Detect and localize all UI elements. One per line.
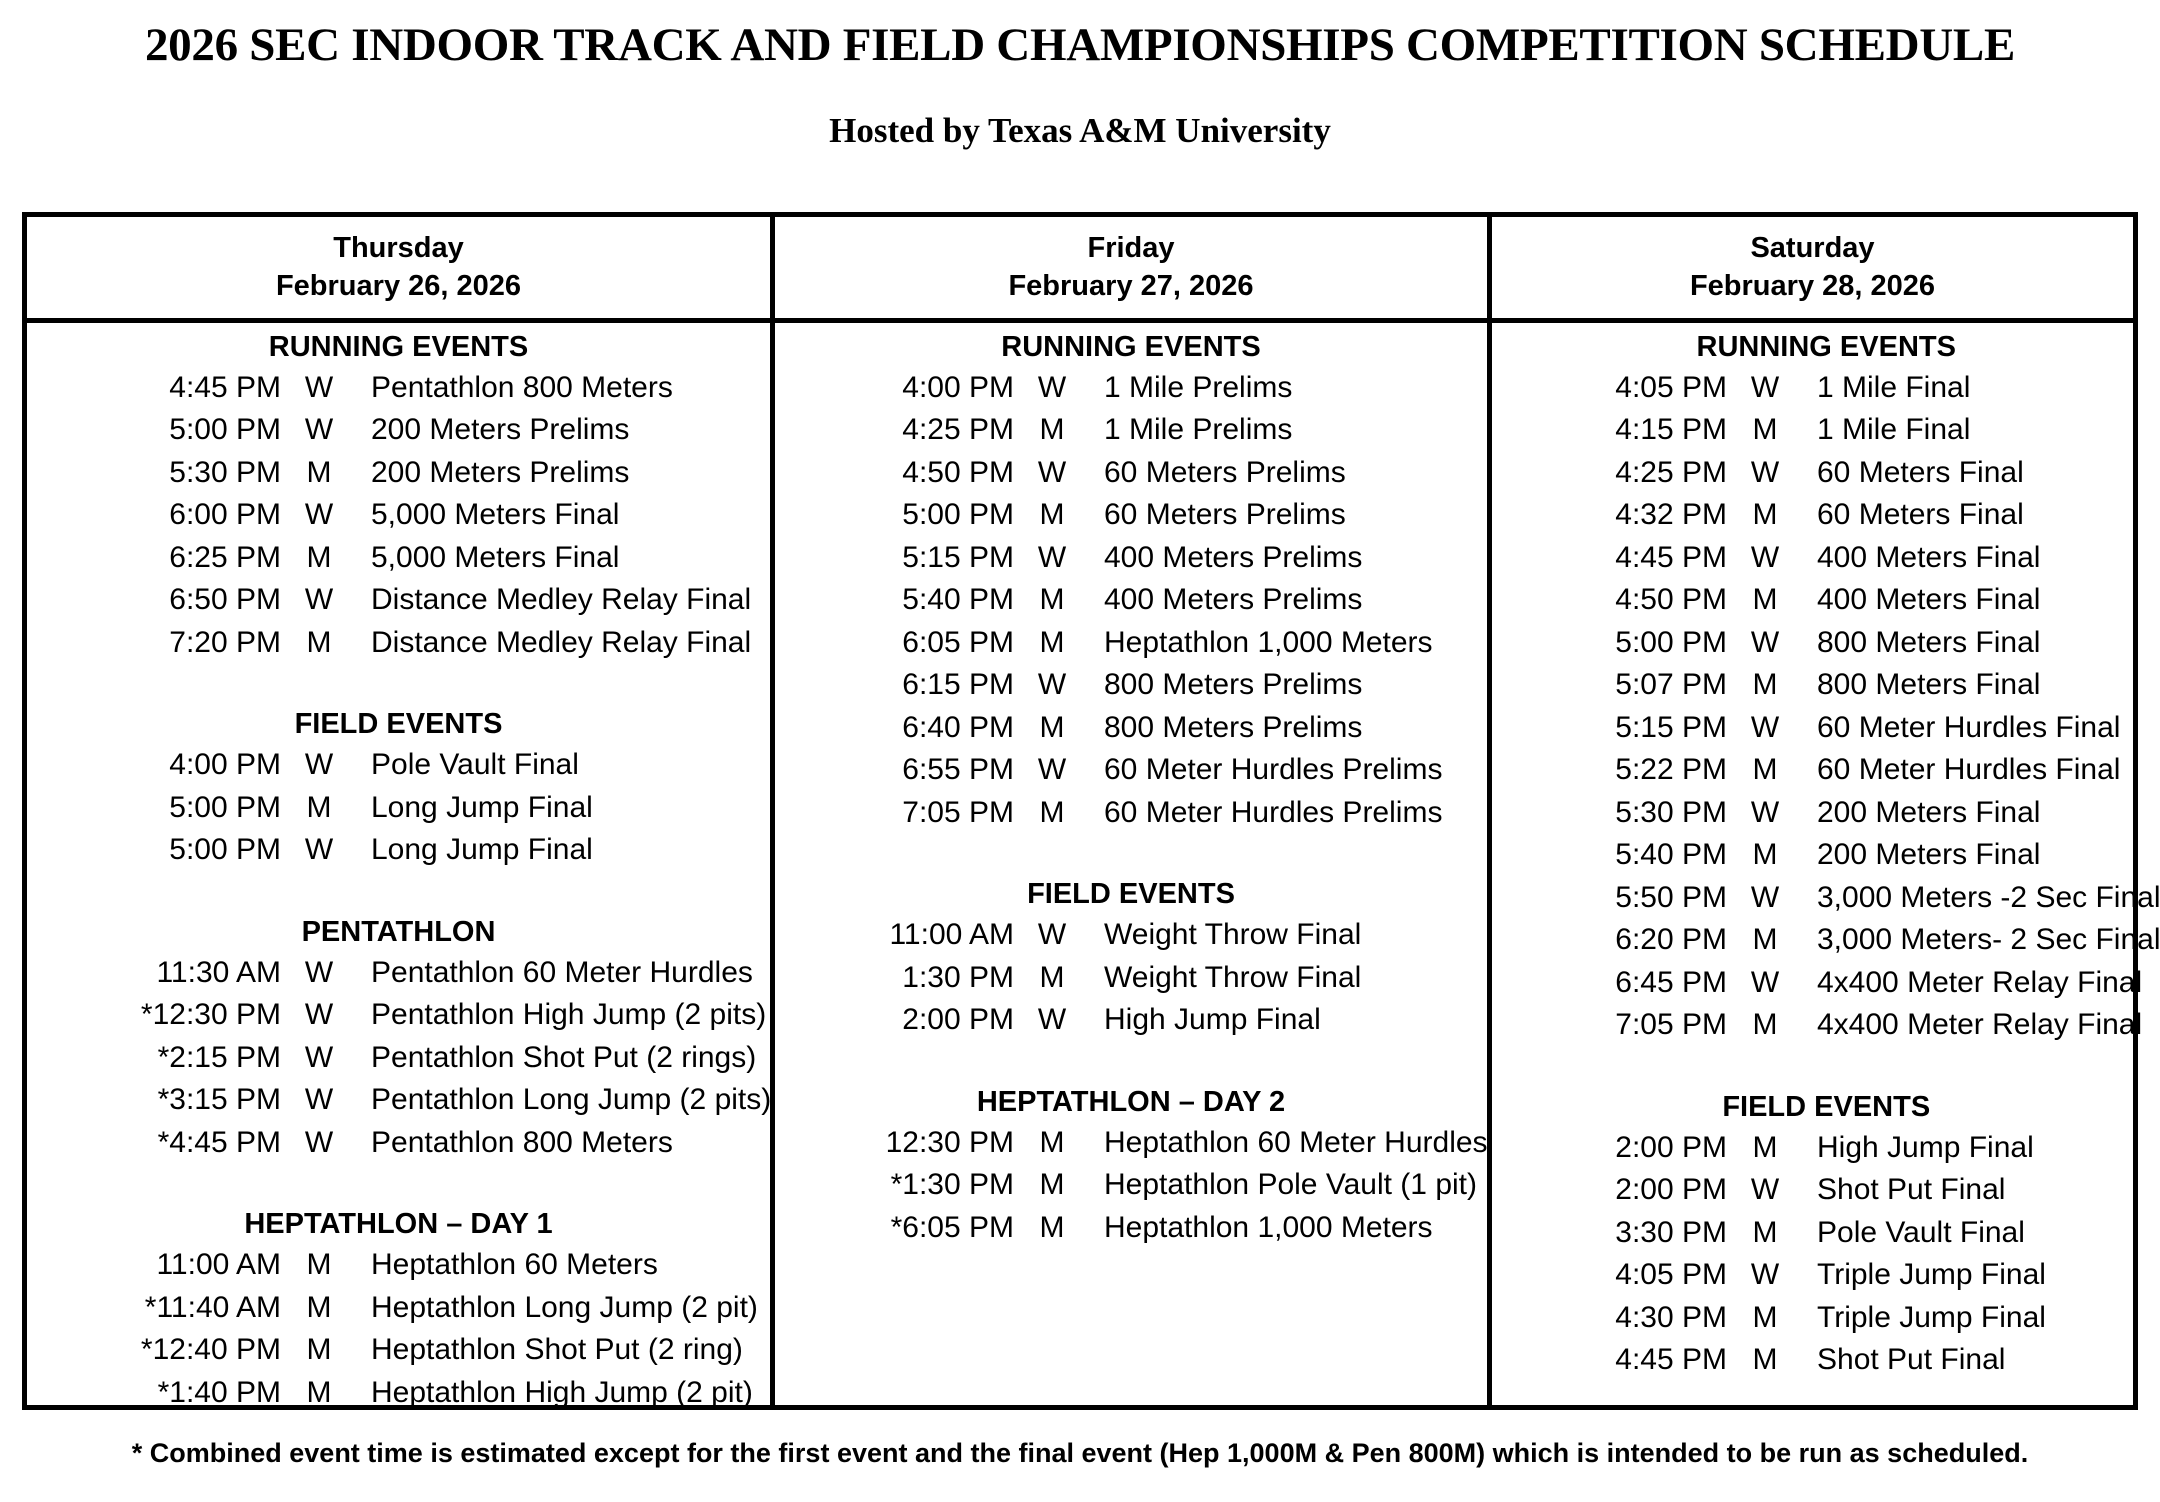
event-name: Pentathlon High Jump (2 pits) (357, 994, 770, 1037)
event-time: 7:05 PM (819, 792, 1014, 835)
event-time: 4:05 PM (1532, 367, 1727, 410)
event-name: Triple Jump Final (1803, 1297, 2160, 1340)
day-header-text: Friday February 27, 2026 (775, 217, 1487, 318)
event-time: 4:50 PM (819, 452, 1014, 495)
event-gender: M (281, 787, 357, 830)
event-gender: M (1727, 1212, 1803, 1255)
event-row: 6:55 PMW60 Meter Hurdles Prelims (775, 749, 1487, 792)
event-gender: M (1014, 707, 1090, 750)
event-row: 4:50 PMM400 Meters Final (1492, 579, 2160, 622)
event-name: Weight Throw Final (1090, 957, 1487, 1000)
event-gender: M (1727, 1004, 1803, 1047)
event-name: 1 Mile Prelims (1090, 409, 1487, 452)
day-schedule-friday: RUNNING EVENTS4:00 PMW1 Mile Prelims4:25… (775, 323, 1487, 1405)
event-name: 4x400 Meter Relay Final (1803, 1004, 2160, 1047)
event-row: 4:25 PMM1 Mile Prelims (775, 409, 1487, 452)
section-label: PENTATHLON (27, 918, 770, 952)
event-time: 4:45 PM (1532, 1339, 1727, 1382)
event-gender: M (1727, 494, 1803, 537)
event-row: 11:00 AMMHeptathlon 60 Meters (27, 1244, 770, 1287)
event-gender: W (1727, 962, 1803, 1005)
event-gender: W (1727, 622, 1803, 665)
event-time: 5:00 PM (86, 409, 281, 452)
event-gender: W (281, 1037, 357, 1080)
event-time: 11:00 AM (819, 914, 1014, 957)
event-name: Heptathlon 60 Meter Hurdles (1090, 1122, 1488, 1165)
event-time: *12:30 PM (86, 994, 281, 1037)
event-time: *2:15 PM (86, 1037, 281, 1080)
event-gender: M (281, 622, 357, 665)
event-name: Heptathlon 60 Meters (357, 1244, 770, 1287)
event-time: 2:00 PM (1532, 1169, 1727, 1212)
day-schedule-thursday: RUNNING EVENTS4:45 PMWPentathlon 800 Met… (27, 323, 770, 1405)
event-row: 6:20 PMM3,000 Meters- 2 Sec Final (1492, 919, 2160, 962)
event-time: 4:00 PM (86, 744, 281, 787)
event-row: 4:50 PMW60 Meters Prelims (775, 452, 1487, 495)
event-row: 6:40 PMM800 Meters Prelims (775, 707, 1487, 750)
event-name: 3,000 Meters -2 Sec Final (1803, 877, 2160, 920)
event-name: 60 Meters Prelims (1090, 494, 1487, 537)
event-time: 5:22 PM (1532, 749, 1727, 792)
event-gender: W (281, 994, 357, 1037)
event-row: *6:05 PMMHeptathlon 1,000 Meters (775, 1207, 1487, 1250)
event-time: 5:00 PM (1532, 622, 1727, 665)
event-time: *12:40 PM (86, 1329, 281, 1372)
event-gender: W (1727, 537, 1803, 580)
event-name: 200 Meters Final (1803, 792, 2160, 835)
event-gender: M (281, 1372, 357, 1415)
event-row: *2:15 PMWPentathlon Shot Put (2 rings) (27, 1037, 770, 1080)
column-body-friday: RUNNING EVENTS4:00 PMW1 Mile Prelims4:25… (770, 323, 1492, 1405)
day-header-text: Saturday February 28, 2026 (1492, 217, 2133, 318)
event-name: Pentathlon Long Jump (2 pits) (357, 1079, 771, 1122)
event-gender: M (1727, 1297, 1803, 1340)
event-gender: W (281, 744, 357, 787)
event-time: 6:55 PM (819, 749, 1014, 792)
event-list: 12:30 PMMHeptathlon 60 Meter Hurdles*1:3… (775, 1122, 1487, 1250)
event-row: 5:15 PMW400 Meters Prelims (775, 537, 1487, 580)
event-row: 4:30 PMMTriple Jump Final (1492, 1297, 2160, 1340)
event-row: 4:05 PMWTriple Jump Final (1492, 1254, 2160, 1297)
section-spacer (27, 872, 770, 918)
event-gender: W (281, 952, 357, 995)
event-time: 4:32 PM (1532, 494, 1727, 537)
event-row: 4:45 PMW400 Meters Final (1492, 537, 2160, 580)
event-time: 2:00 PM (819, 999, 1014, 1042)
day-name: Thursday (27, 229, 770, 267)
event-gender: W (1727, 452, 1803, 495)
event-time: 4:05 PM (1532, 1254, 1727, 1297)
event-name: 60 Meter Hurdles Prelims (1090, 792, 1487, 835)
event-gender: M (1014, 579, 1090, 622)
event-gender: M (1014, 494, 1090, 537)
schedule-table: Thursday February 26, 2026 Friday Februa… (22, 212, 2138, 1410)
event-gender: M (281, 1287, 357, 1330)
event-gender: M (1727, 664, 1803, 707)
event-row: 5:22 PMM60 Meter Hurdles Final (1492, 749, 2160, 792)
event-row: *1:40 PMMHeptathlon High Jump (2 pit) (27, 1372, 770, 1415)
event-name: 1 Mile Prelims (1090, 367, 1487, 410)
event-name: Heptathlon High Jump (2 pit) (357, 1372, 770, 1415)
event-row: *12:40 PMMHeptathlon Shot Put (2 ring) (27, 1329, 770, 1372)
event-gender: W (1014, 537, 1090, 580)
event-name: 200 Meters Final (1803, 834, 2160, 877)
event-name: 400 Meters Final (1803, 579, 2160, 622)
event-gender: M (281, 1244, 357, 1287)
column-header-saturday: Saturday February 28, 2026 (1492, 217, 2133, 318)
event-gender: M (1014, 409, 1090, 452)
event-list: 11:00 AMWWeight Throw Final1:30 PMMWeigh… (775, 914, 1487, 1042)
event-gender: M (1014, 957, 1090, 1000)
column-header-thursday: Thursday February 26, 2026 (27, 217, 770, 318)
event-time: *4:45 PM (86, 1122, 281, 1165)
event-time: *1:40 PM (86, 1372, 281, 1415)
event-row: 5:30 PMM200 Meters Prelims (27, 452, 770, 495)
table-header-row: Thursday February 26, 2026 Friday Februa… (27, 217, 2133, 323)
event-row: *3:15 PMWPentathlon Long Jump (2 pits) (27, 1079, 770, 1122)
event-name: 800 Meters Final (1803, 664, 2160, 707)
event-time: 6:05 PM (819, 622, 1014, 665)
event-time: 7:20 PM (86, 622, 281, 665)
event-gender: W (1727, 1254, 1803, 1297)
event-name: 3,000 Meters- 2 Sec Final (1803, 919, 2160, 962)
event-row: 11:30 AMWPentathlon 60 Meter Hurdles (27, 952, 770, 995)
event-name: High Jump Final (1803, 1127, 2160, 1170)
section-label: HEPTATHLON – DAY 1 (27, 1210, 770, 1244)
event-time: 6:20 PM (1532, 919, 1727, 962)
event-time: 6:25 PM (86, 537, 281, 580)
event-gender: W (281, 579, 357, 622)
event-row: 5:00 PMW200 Meters Prelims (27, 409, 770, 452)
section-label: RUNNING EVENTS (775, 333, 1487, 367)
event-row: 11:00 AMWWeight Throw Final (775, 914, 1487, 957)
event-row: 6:25 PMM5,000 Meters Final (27, 537, 770, 580)
event-gender: W (281, 1122, 357, 1165)
event-gender: W (281, 494, 357, 537)
event-time: 5:00 PM (819, 494, 1014, 537)
event-gender: W (1727, 792, 1803, 835)
event-name: Pentathlon 800 Meters (357, 367, 770, 410)
event-row: 5:15 PMW60 Meter Hurdles Final (1492, 707, 2160, 750)
event-name: Pentathlon Shot Put (2 rings) (357, 1037, 770, 1080)
event-gender: W (1014, 749, 1090, 792)
section-spacer (1492, 1047, 2160, 1093)
event-row: 5:30 PMW200 Meters Final (1492, 792, 2160, 835)
event-row: 6:45 PMW4x400 Meter Relay Final (1492, 962, 2160, 1005)
event-row: 5:50 PMW3,000 Meters -2 Sec Final (1492, 877, 2160, 920)
event-gender: W (1727, 707, 1803, 750)
section-label: RUNNING EVENTS (27, 333, 770, 367)
event-name: Pole Vault Final (357, 744, 770, 787)
event-time: 11:00 AM (86, 1244, 281, 1287)
event-row: 6:05 PMMHeptathlon 1,000 Meters (775, 622, 1487, 665)
event-gender: M (1727, 919, 1803, 962)
event-time: 5:15 PM (819, 537, 1014, 580)
column-body-saturday: RUNNING EVENTS4:05 PMW1 Mile Final4:15 P… (1492, 323, 2160, 1405)
day-name: Friday (775, 229, 1487, 267)
event-name: Shot Put Final (1803, 1169, 2160, 1212)
day-date: February 27, 2026 (775, 267, 1487, 305)
event-time: 6:40 PM (819, 707, 1014, 750)
event-time: 4:50 PM (1532, 579, 1727, 622)
event-name: 800 Meters Prelims (1090, 707, 1487, 750)
event-name: Heptathlon Long Jump (2 pit) (357, 1287, 770, 1330)
section-label: FIELD EVENTS (1492, 1093, 2160, 1127)
event-row: 7:05 PMM60 Meter Hurdles Prelims (775, 792, 1487, 835)
event-gender: M (281, 1329, 357, 1372)
event-row: 5:00 PMW800 Meters Final (1492, 622, 2160, 665)
event-gender: M (281, 537, 357, 580)
event-row: 5:00 PMM60 Meters Prelims (775, 494, 1487, 537)
event-time: *11:40 AM (86, 1287, 281, 1330)
event-name: High Jump Final (1090, 999, 1487, 1042)
day-date: February 26, 2026 (27, 267, 770, 305)
event-name: Long Jump Final (357, 829, 770, 872)
event-gender: W (1014, 914, 1090, 957)
event-row: 5:40 PMM400 Meters Prelims (775, 579, 1487, 622)
event-row: 4:05 PMW1 Mile Final (1492, 367, 2160, 410)
event-row: 4:45 PMMShot Put Final (1492, 1339, 2160, 1382)
event-name: 400 Meters Prelims (1090, 537, 1487, 580)
event-gender: M (1727, 579, 1803, 622)
event-name: 400 Meters Final (1803, 537, 2160, 580)
event-name: 4x400 Meter Relay Final (1803, 962, 2160, 1005)
event-name: 800 Meters Final (1803, 622, 2160, 665)
event-name: 200 Meters Prelims (357, 409, 770, 452)
event-gender: W (1727, 877, 1803, 920)
event-row: *11:40 AMMHeptathlon Long Jump (2 pit) (27, 1287, 770, 1330)
event-gender: M (1727, 409, 1803, 452)
event-name: Triple Jump Final (1803, 1254, 2160, 1297)
table-body-row: RUNNING EVENTS4:45 PMWPentathlon 800 Met… (27, 323, 2133, 1405)
event-gender: W (1014, 999, 1090, 1042)
event-name: Heptathlon Pole Vault (1 pit) (1090, 1164, 1487, 1207)
event-list: 11:00 AMMHeptathlon 60 Meters*11:40 AMMH… (27, 1244, 770, 1414)
event-name: Pentathlon 800 Meters (357, 1122, 770, 1165)
event-gender: M (1727, 1339, 1803, 1382)
event-gender: W (1014, 664, 1090, 707)
page-title: 2026 SEC INDOOR TRACK AND FIELD CHAMPION… (0, 0, 2160, 69)
event-time: 6:45 PM (1532, 962, 1727, 1005)
event-time: *3:15 PM (86, 1079, 281, 1122)
schedule-page: 2026 SEC INDOOR TRACK AND FIELD CHAMPION… (0, 0, 2160, 1502)
event-gender: M (1014, 1207, 1090, 1250)
event-gender: M (1727, 834, 1803, 877)
event-list: 4:00 PMW1 Mile Prelims4:25 PMM1 Mile Pre… (775, 367, 1487, 835)
event-row: 4:00 PMW1 Mile Prelims (775, 367, 1487, 410)
event-row: 5:40 PMM200 Meters Final (1492, 834, 2160, 877)
event-gender: W (281, 829, 357, 872)
event-row: 4:15 PMM1 Mile Final (1492, 409, 2160, 452)
event-row: 2:00 PMMHigh Jump Final (1492, 1127, 2160, 1170)
section-spacer (775, 1042, 1487, 1088)
event-name: Distance Medley Relay Final (357, 579, 770, 622)
event-time: 3:30 PM (1532, 1212, 1727, 1255)
section-label: RUNNING EVENTS (1492, 333, 2160, 367)
event-time: 2:00 PM (1532, 1127, 1727, 1170)
event-time: 4:15 PM (1532, 409, 1727, 452)
event-gender: M (1014, 1122, 1090, 1165)
event-name: Pole Vault Final (1803, 1212, 2160, 1255)
section-label: HEPTATHLON – DAY 2 (775, 1088, 1487, 1122)
event-time: 6:00 PM (86, 494, 281, 537)
event-list: 2:00 PMMHigh Jump Final2:00 PMWShot Put … (1492, 1127, 2160, 1382)
event-name: Heptathlon 1,000 Meters (1090, 622, 1487, 665)
section-spacer (775, 834, 1487, 880)
event-time: 7:05 PM (1532, 1004, 1727, 1047)
event-row: 4:45 PMWPentathlon 800 Meters (27, 367, 770, 410)
event-name: 60 Meter Hurdles Prelims (1090, 749, 1487, 792)
event-gender: W (281, 367, 357, 410)
event-time: 4:45 PM (1532, 537, 1727, 580)
event-list: 4:45 PMWPentathlon 800 Meters5:00 PMW200… (27, 367, 770, 665)
event-row: 4:32 PMM60 Meters Final (1492, 494, 2160, 537)
event-time: 5:00 PM (86, 787, 281, 830)
event-name: 60 Meters Final (1803, 452, 2160, 495)
event-name: Long Jump Final (357, 787, 770, 830)
event-name: Shot Put Final (1803, 1339, 2160, 1382)
section-spacer (27, 664, 770, 710)
event-name: 5,000 Meters Final (357, 537, 770, 580)
day-header-text: Thursday February 26, 2026 (27, 217, 770, 318)
event-time: *1:30 PM (819, 1164, 1014, 1207)
event-name: 5,000 Meters Final (357, 494, 770, 537)
event-name: 60 Meters Final (1803, 494, 2160, 537)
event-time: 5:07 PM (1532, 664, 1727, 707)
event-row: 12:30 PMMHeptathlon 60 Meter Hurdles (775, 1122, 1487, 1165)
event-row: 2:00 PMWShot Put Final (1492, 1169, 2160, 1212)
event-row: 6:00 PMW5,000 Meters Final (27, 494, 770, 537)
event-time: 4:30 PM (1532, 1297, 1727, 1340)
event-time: 4:45 PM (86, 367, 281, 410)
event-name: Distance Medley Relay Final (357, 622, 770, 665)
column-body-thursday: RUNNING EVENTS4:45 PMWPentathlon 800 Met… (27, 323, 770, 1405)
event-gender: W (1014, 452, 1090, 495)
footnote: * Combined event time is estimated excep… (0, 1440, 2160, 1467)
event-time: 5:40 PM (819, 579, 1014, 622)
page-subtitle: Hosted by Texas A&M University (0, 69, 2160, 148)
event-gender: M (1014, 792, 1090, 835)
event-gender: M (1014, 622, 1090, 665)
event-list: 11:30 AMWPentathlon 60 Meter Hurdles*12:… (27, 952, 770, 1165)
event-time: 12:30 PM (819, 1122, 1014, 1165)
event-name: Heptathlon Shot Put (2 ring) (357, 1329, 770, 1372)
event-time: 6:50 PM (86, 579, 281, 622)
event-gender: W (1727, 1169, 1803, 1212)
event-time: 5:50 PM (1532, 877, 1727, 920)
event-row: 5:00 PMWLong Jump Final (27, 829, 770, 872)
event-row: 1:30 PMMWeight Throw Final (775, 957, 1487, 1000)
column-header-friday: Friday February 27, 2026 (770, 217, 1492, 318)
event-time: 4:25 PM (1532, 452, 1727, 495)
event-row: 5:07 PMM800 Meters Final (1492, 664, 2160, 707)
event-name: 1 Mile Final (1803, 409, 2160, 452)
event-time: 5:30 PM (1532, 792, 1727, 835)
event-time: 4:25 PM (819, 409, 1014, 452)
event-gender: M (1014, 1164, 1090, 1207)
event-gender: W (281, 1079, 357, 1122)
event-gender: M (281, 452, 357, 495)
event-time: 5:40 PM (1532, 834, 1727, 877)
event-name: Weight Throw Final (1090, 914, 1487, 957)
event-time: 5:30 PM (86, 452, 281, 495)
event-gender: M (1727, 749, 1803, 792)
event-gender: W (1014, 367, 1090, 410)
day-name: Saturday (1492, 229, 2133, 267)
event-row: 4:25 PMW60 Meters Final (1492, 452, 2160, 495)
event-name: Pentathlon 60 Meter Hurdles (357, 952, 770, 995)
section-spacer (27, 1164, 770, 1210)
event-name: 800 Meters Prelims (1090, 664, 1487, 707)
event-row: 7:05 PMM4x400 Meter Relay Final (1492, 1004, 2160, 1047)
event-time: 6:15 PM (819, 664, 1014, 707)
event-gender: W (281, 409, 357, 452)
event-row: 7:20 PMMDistance Medley Relay Final (27, 622, 770, 665)
event-row: 2:00 PMWHigh Jump Final (775, 999, 1487, 1042)
event-row: *12:30 PMWPentathlon High Jump (2 pits) (27, 994, 770, 1037)
event-row: *1:30 PMMHeptathlon Pole Vault (1 pit) (775, 1164, 1487, 1207)
event-list: 4:00 PMWPole Vault Final5:00 PMMLong Jum… (27, 744, 770, 872)
event-time: 11:30 AM (86, 952, 281, 995)
day-schedule-saturday: RUNNING EVENTS4:05 PMW1 Mile Final4:15 P… (1492, 323, 2160, 1405)
event-name: 400 Meters Prelims (1090, 579, 1487, 622)
event-name: 60 Meters Prelims (1090, 452, 1487, 495)
event-row: 4:00 PMWPole Vault Final (27, 744, 770, 787)
event-gender: M (1727, 1127, 1803, 1170)
event-name: Heptathlon 1,000 Meters (1090, 1207, 1487, 1250)
event-name: 60 Meter Hurdles Final (1803, 707, 2160, 750)
event-time: *6:05 PM (819, 1207, 1014, 1250)
event-name: 200 Meters Prelims (357, 452, 770, 495)
event-row: *4:45 PMWPentathlon 800 Meters (27, 1122, 770, 1165)
section-label: FIELD EVENTS (27, 710, 770, 744)
event-row: 6:15 PMW800 Meters Prelims (775, 664, 1487, 707)
event-list: 4:05 PMW1 Mile Final4:15 PMM1 Mile Final… (1492, 367, 2160, 1047)
event-time: 4:00 PM (819, 367, 1014, 410)
event-row: 3:30 PMMPole Vault Final (1492, 1212, 2160, 1255)
event-time: 1:30 PM (819, 957, 1014, 1000)
day-date: February 28, 2026 (1492, 267, 2133, 305)
event-row: 5:00 PMMLong Jump Final (27, 787, 770, 830)
event-time: 5:00 PM (86, 829, 281, 872)
event-row: 6:50 PMWDistance Medley Relay Final (27, 579, 770, 622)
event-gender: W (1727, 367, 1803, 410)
section-label: FIELD EVENTS (775, 880, 1487, 914)
event-time: 5:15 PM (1532, 707, 1727, 750)
event-name: 1 Mile Final (1803, 367, 2160, 410)
event-name: 60 Meter Hurdles Final (1803, 749, 2160, 792)
